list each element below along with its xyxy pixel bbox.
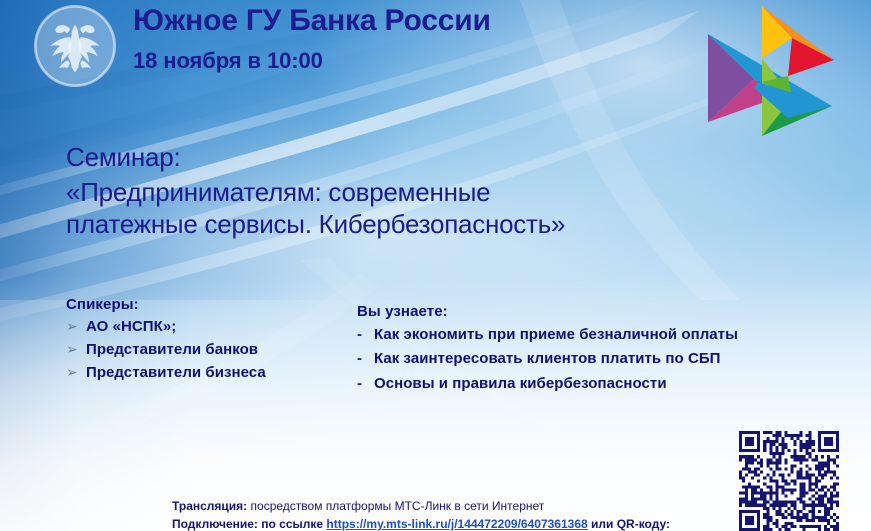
list-item: ➢ Представители бизнеса [66, 362, 351, 385]
arrow-bullet-icon: ➢ [66, 339, 86, 360]
event-datetime: 18 ноября в 10:00 [133, 48, 693, 74]
meeting-link[interactable]: https://my.mts-link.ru/j/144472209/64073… [326, 517, 587, 531]
list-item: ➢ АО «НСПК»; [66, 316, 351, 339]
footer-info: Трансляция: посредством платформы МТС-Ли… [172, 497, 772, 531]
connection-text: по ссылке [258, 517, 326, 531]
learn-list: - Как экономить при приеме безналичной о… [357, 323, 857, 396]
connection-tail: или QR-коду: [588, 517, 670, 531]
seminar-headline-block: Семинар: «Предпринимателям: современные … [66, 142, 846, 241]
speakers-item-label: Представители банков [86, 339, 258, 362]
headline-kicker: Семинар: [66, 142, 846, 174]
learn-item-label: Основы и правила кибербезопасности [374, 372, 667, 396]
dash-bullet-icon: - [357, 347, 374, 371]
list-item: - Как экономить при приеме безналичной о… [357, 323, 857, 347]
organization-title: Южное ГУ Банка России [133, 4, 693, 38]
headline-line-2: платежные сервисы. Кибербезопасность» [66, 208, 846, 241]
bank-of-russia-eagle-emblem-icon [31, 2, 119, 90]
dash-bullet-icon: - [357, 372, 374, 396]
list-item: ➢ Представители банков [66, 339, 351, 362]
learn-item-label: Как экономить при приеме безналичной опл… [374, 323, 738, 347]
list-item: - Как заинтересовать клиентов платить по… [357, 347, 857, 371]
broadcast-label: Трансляция: [172, 499, 247, 513]
broadcast-text: посредством платформы МТС-Линк в сети Ин… [247, 499, 544, 513]
broadcast-line: Трансляция: посредством платформы МТС-Ли… [172, 497, 772, 515]
learn-heading: Вы узнаете: [357, 303, 857, 320]
speakers-column: Спикеры: ➢ АО «НСПК»; ➢ Представители ба… [66, 296, 351, 384]
speakers-item-label: Представители бизнеса [86, 362, 266, 385]
learn-column: Вы узнаете: - Как экономить при приеме б… [357, 303, 857, 396]
headline-main: «Предпринимателям: современные платежные… [66, 176, 846, 242]
list-item: - Основы и правила кибербезопасности [357, 372, 857, 396]
arrow-bullet-icon: ➢ [66, 362, 86, 383]
header-text-block: Южное ГУ Банка России 18 ноября в 10:00 [133, 4, 693, 74]
headline-line-1: «Предпринимателям: современные [66, 176, 846, 209]
dash-bullet-icon: - [357, 323, 374, 347]
speakers-item-label: АО «НСПК»; [86, 316, 176, 339]
learn-item-label: Как заинтересовать клиентов платить по С… [374, 347, 721, 371]
speakers-list: ➢ АО «НСПК»; ➢ Представители банков ➢ Пр… [66, 316, 351, 384]
connection-line: Подключение: по ссылке https://my.mts-li… [172, 515, 772, 531]
seminar-poster: Южное ГУ Банка России 18 ноября в 10:00 … [0, 0, 871, 531]
connection-label: Подключение: [172, 517, 258, 531]
speakers-heading: Спикеры: [66, 296, 351, 313]
interlocking-triangles-logo-icon [692, 2, 842, 140]
arrow-bullet-icon: ➢ [66, 316, 86, 337]
